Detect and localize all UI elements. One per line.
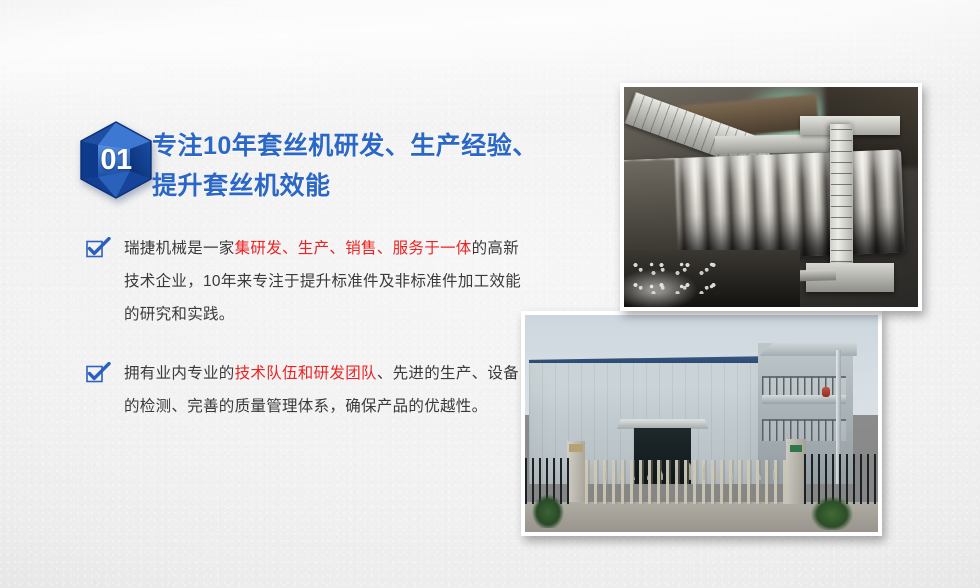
list-item: 拥有业内专业的技术队伍和研发团队、先进的生产、设备的检测、完善的质量管理体系，确… <box>86 357 526 423</box>
page-title: 专注10年套丝机研发、生产经验、 提升套丝机效能 <box>152 126 552 206</box>
bullet-1-seg-2: 集研发、生产、销售、服务于一体 <box>235 240 472 257</box>
hexagon-badge-icon: 01 <box>78 121 154 199</box>
list-item-text: 拥有业内专业的技术队伍和研发团队、先进的生产、设备的检测、完善的质量管理体系，确… <box>124 357 526 423</box>
list-item-text: 瑞捷机械是一家集研发、生产、销售、服务于一体的高新技术企业，10年来专注于提升标… <box>124 232 526 331</box>
copy-column: 01 专注10年套丝机研发、生产经验、 提升套丝机效能 瑞捷机械是一家集研发、生… <box>0 0 560 588</box>
headline-line-1: 专注10年套丝机研发、生产经验、 <box>152 126 552 166</box>
list-item: 瑞捷机械是一家集研发、生产、销售、服务于一体的高新技术企业，10年来专注于提升标… <box>86 232 526 331</box>
threaded-rod-caliper-photo <box>620 83 922 311</box>
promo-banner: 01 专注10年套丝机研发、生产经验、 提升套丝机效能 瑞捷机械是一家集研发、生… <box>0 0 980 588</box>
checkbox-checked-icon <box>86 237 111 259</box>
bullet-2-seg-2: 技术队伍和研发团队 <box>235 365 377 382</box>
bullet-2-seg-1: 拥有业内专业的 <box>124 365 235 382</box>
badge-number: 01 <box>78 121 154 200</box>
headline-line-2: 提升套丝机效能 <box>152 166 552 206</box>
factory-building-photo <box>521 311 882 536</box>
bullet-1-seg-1: 瑞捷机械是一家 <box>124 240 235 257</box>
checkbox-checked-icon <box>86 362 111 384</box>
feature-list: 瑞捷机械是一家集研发、生产、销售、服务于一体的高新技术企业，10年来专注于提升标… <box>86 232 526 449</box>
